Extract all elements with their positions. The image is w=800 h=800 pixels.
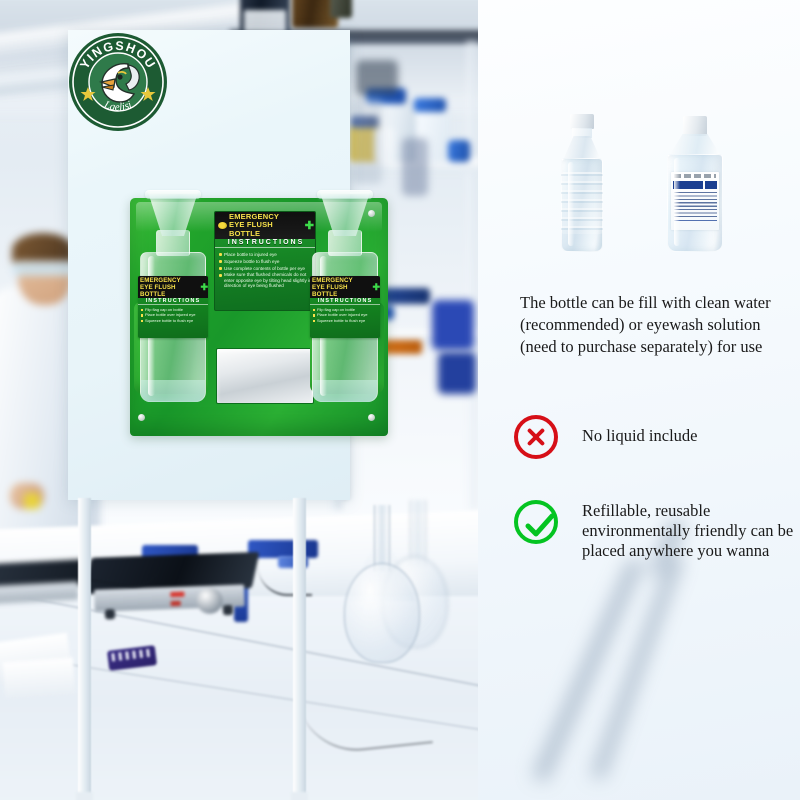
bottle-label: EMERGENCY EYE FLUSH BOTTLE ✚ INSTRUCTION…	[138, 276, 208, 338]
bottle-label-subtitle: INSTRUCTIONS	[310, 298, 380, 305]
placard-title-line2: EYE FLUSH BOTTLE	[229, 220, 273, 237]
medical-cross-icon: ✚	[305, 222, 314, 230]
bottle-label-title-line2: EYE FLUSH BOTTLE	[140, 284, 176, 298]
bottle-label-step: Squeeze bottle to flush eye	[141, 319, 205, 324]
blurred-blue-object	[432, 300, 474, 350]
station-metal-plate	[216, 348, 314, 404]
safety-goggles	[12, 261, 74, 276]
station-instruction-placard: EMERGENCY EYE FLUSH BOTTLE ✚ INSTRUCTION…	[214, 211, 316, 311]
indicator-led	[170, 592, 184, 597]
bottle-label-step: Squeeze bottle to flush eye	[313, 319, 377, 324]
blurred-dark-object	[356, 60, 398, 96]
placard-step: Make sure that flushed chemicals do not …	[219, 272, 313, 288]
placard-header: EMERGENCY EYE FLUSH BOTTLE ✚	[215, 212, 316, 239]
bottle-label: EMERGENCY EYE FLUSH BOTTLE ✚ INSTRUCTION…	[310, 276, 380, 338]
bottle-label-steps: Flip flag cap on bottle Place bottle ove…	[141, 308, 205, 324]
stand-leg-left	[78, 498, 91, 798]
refill-bottles-illustration	[478, 96, 800, 276]
eyewash-solution-bottle	[663, 116, 727, 254]
shelf-bottle-olive	[330, 0, 352, 18]
feature-refillable: Refillable, reusable environmentally fri…	[514, 500, 800, 561]
placard-subtitle: INSTRUCTIONS	[215, 239, 316, 248]
indicator-led-2	[171, 601, 181, 606]
mount-screw-2	[368, 414, 375, 421]
mount-screw-3	[138, 414, 145, 421]
stand-leg-right	[293, 498, 306, 798]
medical-cross-icon: ✚	[200, 282, 208, 293]
stand-foot-right	[291, 792, 308, 800]
feature-text: No liquid include	[558, 415, 697, 446]
blurred-gray-object	[402, 138, 428, 196]
placard-step: Squeeze bottle to flush eye	[219, 259, 313, 264]
placard-step: Use complete contents of bottle per eye	[219, 266, 313, 271]
info-panel: The bottle can be fill with clean water …	[478, 0, 800, 800]
bench-paper-2	[3, 658, 75, 699]
eyewash-station[interactable]: EMERGENCY EYE FLUSH BOTTLE ✚ INSTRUCTION…	[130, 198, 388, 438]
placard-step: Place bottle to injured eye	[219, 252, 313, 257]
feature-text: Refillable, reusable environmentally fri…	[558, 500, 800, 561]
placard-step-list: Place bottle to injured eye Squeeze bott…	[219, 252, 313, 290]
control-knob[interactable]	[196, 587, 223, 614]
bottle-label-steps: Flip flag cap on bottle Place bottle ove…	[313, 308, 377, 324]
bottle-cap	[570, 114, 594, 129]
red-cross-circle-icon	[514, 415, 558, 459]
product-image-stage: EMERGENCY EYE FLUSH BOTTLE ✚ INSTRUCTION…	[0, 0, 800, 800]
blurred-blue-object-2	[438, 352, 476, 394]
bottle-label-title-line1: EMERGENCY	[140, 277, 181, 284]
stand-foot-left	[76, 792, 93, 800]
feature-no-liquid: No liquid include	[514, 415, 800, 459]
medical-cross-icon: ✚	[372, 282, 380, 293]
bottle-label-title-line1: EMERGENCY	[312, 277, 353, 284]
lead-description: The bottle can be fill with clean water …	[520, 292, 788, 358]
bottle-label-title-line2: EYE FLUSH BOTTLE	[312, 284, 348, 298]
product-photo-panel: EMERGENCY EYE FLUSH BOTTLE ✚ INSTRUCTION…	[0, 0, 478, 800]
background-watermark-tool	[618, 520, 800, 800]
clean-water-bottle	[555, 114, 609, 254]
bottle-cap	[683, 116, 707, 136]
bottle-label-subtitle: INSTRUCTIONS	[138, 298, 208, 305]
volumetric-flask	[330, 505, 430, 695]
brand-logo: YINGSHOU Laelisi	[68, 32, 168, 132]
blurred-tube-object	[352, 98, 382, 184]
eye-icon	[218, 222, 227, 229]
mount-screw	[368, 210, 375, 217]
green-check-circle-icon	[514, 500, 558, 544]
